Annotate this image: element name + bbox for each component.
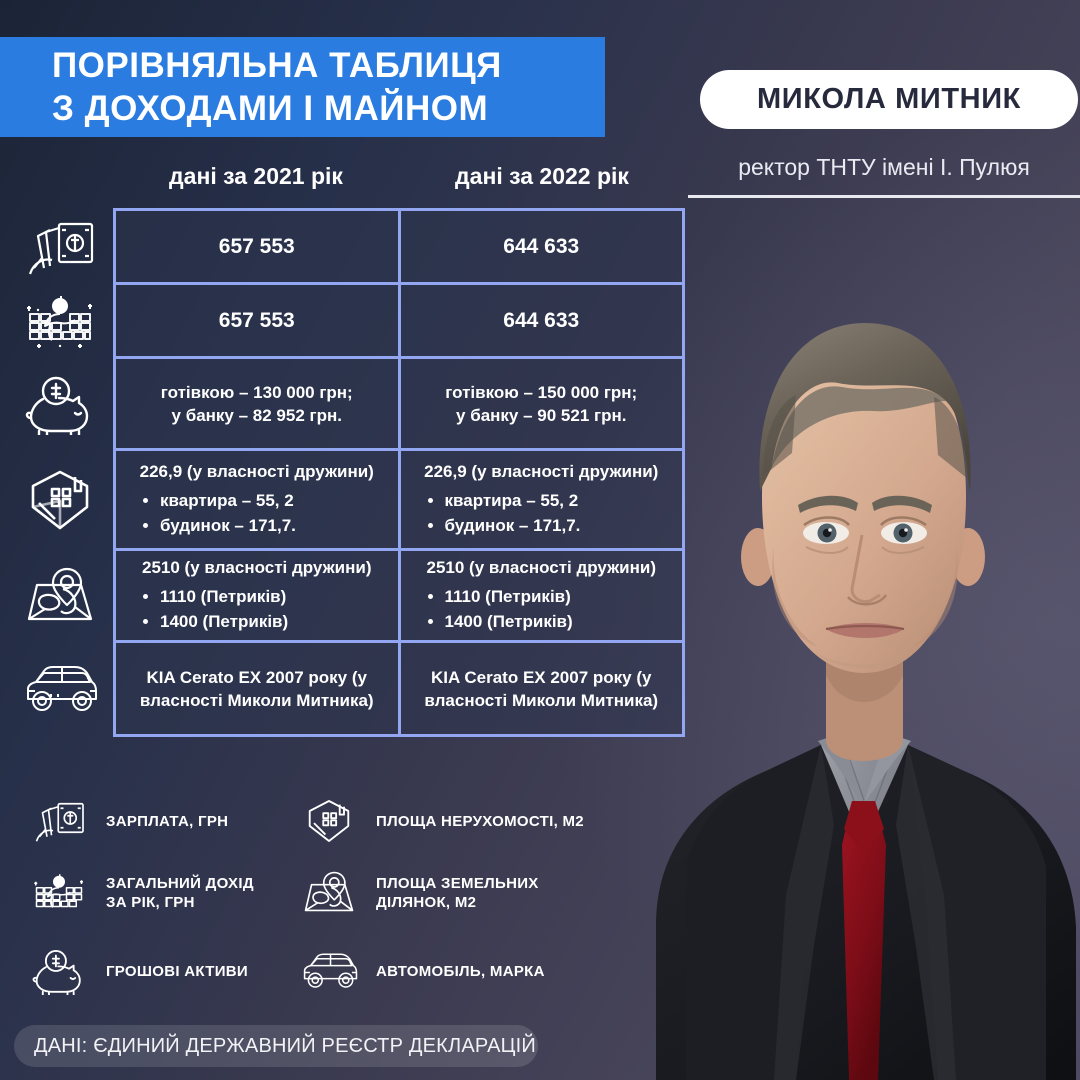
legend-item-real-estate: ПЛОЩА НЕРУХОМОСТІ, М2 bbox=[298, 790, 584, 852]
list-item: 1110 (Петриків) bbox=[160, 585, 288, 608]
cell-bullet-list: квартира – 55, 2 будинок – 171,7. bbox=[130, 487, 296, 539]
list-item: будинок – 171,7. bbox=[160, 514, 296, 537]
table-row: 657 553 644 633 bbox=[116, 211, 685, 285]
column-header-2021: дані за 2021 рік bbox=[113, 163, 399, 190]
cell-main: KIA Cerato EX 2007 року (у bbox=[431, 666, 651, 689]
person-on-money-icon bbox=[28, 862, 90, 924]
table-cell: 2510 (у власності дружини) 1110 (Петрикі… bbox=[116, 551, 401, 643]
source-text: ДАНІ: ЄДИНИЙ ДЕРЖАВНИЙ РЕЄСТР ДЕКЛАРАЦІЙ bbox=[34, 1035, 536, 1058]
title-banner: ПОРІВНЯЛЬНА ТАБЛИЦЯ З ДОХОДАМИ І МАЙНОМ bbox=[0, 37, 605, 137]
table-row: 657 553 644 633 bbox=[116, 285, 685, 359]
table-row: KIA Cerato EX 2007 року (у власності Мик… bbox=[116, 643, 685, 737]
person-photo bbox=[646, 205, 1080, 1080]
table-cell: 644 633 bbox=[401, 285, 686, 359]
table-cell: 2510 (у власності дружини) 1110 (Петрикі… bbox=[401, 551, 686, 643]
row-icon-car bbox=[20, 642, 100, 736]
role-divider bbox=[688, 195, 1080, 198]
row-icon-salary bbox=[20, 210, 100, 284]
legend-label: ЗАРПЛАТА, ГРН bbox=[106, 812, 228, 831]
source-footer: ДАНІ: ЄДИНИЙ ДЕРЖАВНИЙ РЕЄСТР ДЕКЛАРАЦІЙ bbox=[14, 1025, 538, 1067]
map-pin-icon bbox=[298, 862, 360, 924]
cell-main-2: у банку – 82 952 грн. bbox=[172, 404, 342, 427]
cell-main: 2510 (у власності дружини) bbox=[142, 556, 371, 579]
title-line-1: ПОРІВНЯЛЬНА ТАБЛИЦЯ bbox=[52, 44, 605, 87]
cell-main: 657 553 bbox=[219, 235, 295, 258]
table-cell: KIA Cerato EX 2007 року (у власності Мик… bbox=[116, 643, 401, 737]
table-cell: 226,9 (у власності дружини) квартира – 5… bbox=[116, 451, 401, 551]
legend-label: АВТОМОБІЛЬ, МАРКА bbox=[376, 962, 545, 981]
table-row: 226,9 (у власності дружини) квартира – 5… bbox=[116, 451, 685, 551]
house-icon bbox=[298, 790, 360, 852]
table-cell: 657 553 bbox=[116, 285, 401, 359]
cell-main: готівкою – 150 000 грн; bbox=[445, 381, 637, 404]
list-item: 1110 (Петриків) bbox=[445, 585, 573, 608]
table-cell: готівкою – 150 000 грн; у банку – 90 521… bbox=[401, 359, 686, 451]
person-name-pill: МИКОЛА МИТНИК bbox=[700, 70, 1078, 129]
cell-bullet-list: квартира – 55, 2 будинок – 171,7. bbox=[415, 487, 581, 539]
row-icon-land bbox=[20, 550, 100, 642]
list-item: будинок – 171,7. bbox=[445, 514, 581, 537]
cell-main: 226,9 (у власності дружини) bbox=[140, 460, 374, 483]
legend-item-land: ПЛОЩА ЗЕМЕЛЬНИХ ДІЛЯНОК, М2 bbox=[298, 862, 539, 924]
cell-main: 644 633 bbox=[503, 235, 579, 258]
piggy-bank-icon bbox=[28, 940, 90, 1002]
legend-label: ГРОШОВІ АКТИВИ bbox=[106, 962, 248, 981]
comparison-table: 657 553 644 633 657 553 644 633 готівкою… bbox=[113, 208, 685, 737]
table-row: 2510 (у власності дружини) 1110 (Петрикі… bbox=[116, 551, 685, 643]
legend-label: ПЛОЩА НЕРУХОМОСТІ, М2 bbox=[376, 812, 584, 831]
list-item: 1400 (Петриків) bbox=[445, 610, 573, 633]
cell-main: 657 553 bbox=[219, 309, 295, 332]
car-icon bbox=[298, 940, 360, 1002]
legend-item-salary: ЗАРПЛАТА, ГРН bbox=[28, 790, 228, 852]
legend-item-cash-assets: ГРОШОВІ АКТИВИ bbox=[28, 940, 248, 1002]
row-icon-cash-assets bbox=[20, 358, 100, 450]
title-line-2: З ДОХОДАМИ І МАЙНОМ bbox=[52, 87, 605, 130]
person-name: МИКОЛА МИТНИК bbox=[757, 83, 1021, 116]
cell-main: 2510 (у власності дружини) bbox=[427, 556, 656, 579]
legend-label-line1: ПЛОЩА ЗЕМЕЛЬНИХ bbox=[376, 875, 539, 892]
legend-label: ПЛОЩА ЗЕМЕЛЬНИХ ДІЛЯНОК, М2 bbox=[376, 874, 539, 912]
cell-main: 644 633 bbox=[503, 309, 579, 332]
infographic-page: ПОРІВНЯЛЬНА ТАБЛИЦЯ З ДОХОДАМИ І МАЙНОМ … bbox=[0, 0, 1080, 1080]
cell-main: готівкою – 130 000 грн; bbox=[161, 381, 353, 404]
legend-item-car: АВТОМОБІЛЬ, МАРКА bbox=[298, 940, 545, 1002]
cell-main: KIA Cerato EX 2007 року (у bbox=[147, 666, 367, 689]
table-cell: готівкою – 130 000 грн; у банку – 82 952… bbox=[116, 359, 401, 451]
hand-with-banknotes-icon bbox=[28, 790, 90, 852]
cell-main-2: власності Миколи Митника) bbox=[424, 689, 658, 712]
column-header-2022: дані за 2022 рік bbox=[399, 163, 685, 190]
table-cell: KIA Cerato EX 2007 року (у власності Мик… bbox=[401, 643, 686, 737]
legend-label-line2: ДІЛЯНОК, М2 bbox=[376, 894, 476, 911]
cell-main: 226,9 (у власності дружини) bbox=[424, 460, 658, 483]
table-cell: 644 633 bbox=[401, 211, 686, 285]
cell-main-2: власності Миколи Митника) bbox=[140, 689, 374, 712]
legend-label-line2: ЗА РІК, ГРН bbox=[106, 894, 195, 911]
legend-label: ЗАГАЛЬНИЙ ДОХІД ЗА РІК, ГРН bbox=[106, 874, 254, 912]
list-item: 1400 (Петриків) bbox=[160, 610, 288, 633]
cell-main-2: у банку – 90 521 грн. bbox=[456, 404, 626, 427]
row-icon-total-income bbox=[20, 284, 100, 358]
list-item: квартира – 55, 2 bbox=[160, 489, 296, 512]
legend-label-line1: ЗАГАЛЬНИЙ ДОХІД bbox=[106, 875, 254, 892]
list-item: квартира – 55, 2 bbox=[445, 489, 581, 512]
legend-item-total-income: ЗАГАЛЬНИЙ ДОХІД ЗА РІК, ГРН bbox=[28, 862, 254, 924]
cell-bullet-list: 1110 (Петриків) 1400 (Петриків) bbox=[130, 583, 288, 635]
row-icon-real-estate bbox=[20, 450, 100, 550]
person-role: ректор ТНТУ імені І. Пулюя bbox=[688, 150, 1080, 184]
cell-bullet-list: 1110 (Петриків) 1400 (Петриків) bbox=[415, 583, 573, 635]
table-row: готівкою – 130 000 грн; у банку – 82 952… bbox=[116, 359, 685, 451]
table-cell: 657 553 bbox=[116, 211, 401, 285]
table-cell: 226,9 (у власності дружини) квартира – 5… bbox=[401, 451, 686, 551]
